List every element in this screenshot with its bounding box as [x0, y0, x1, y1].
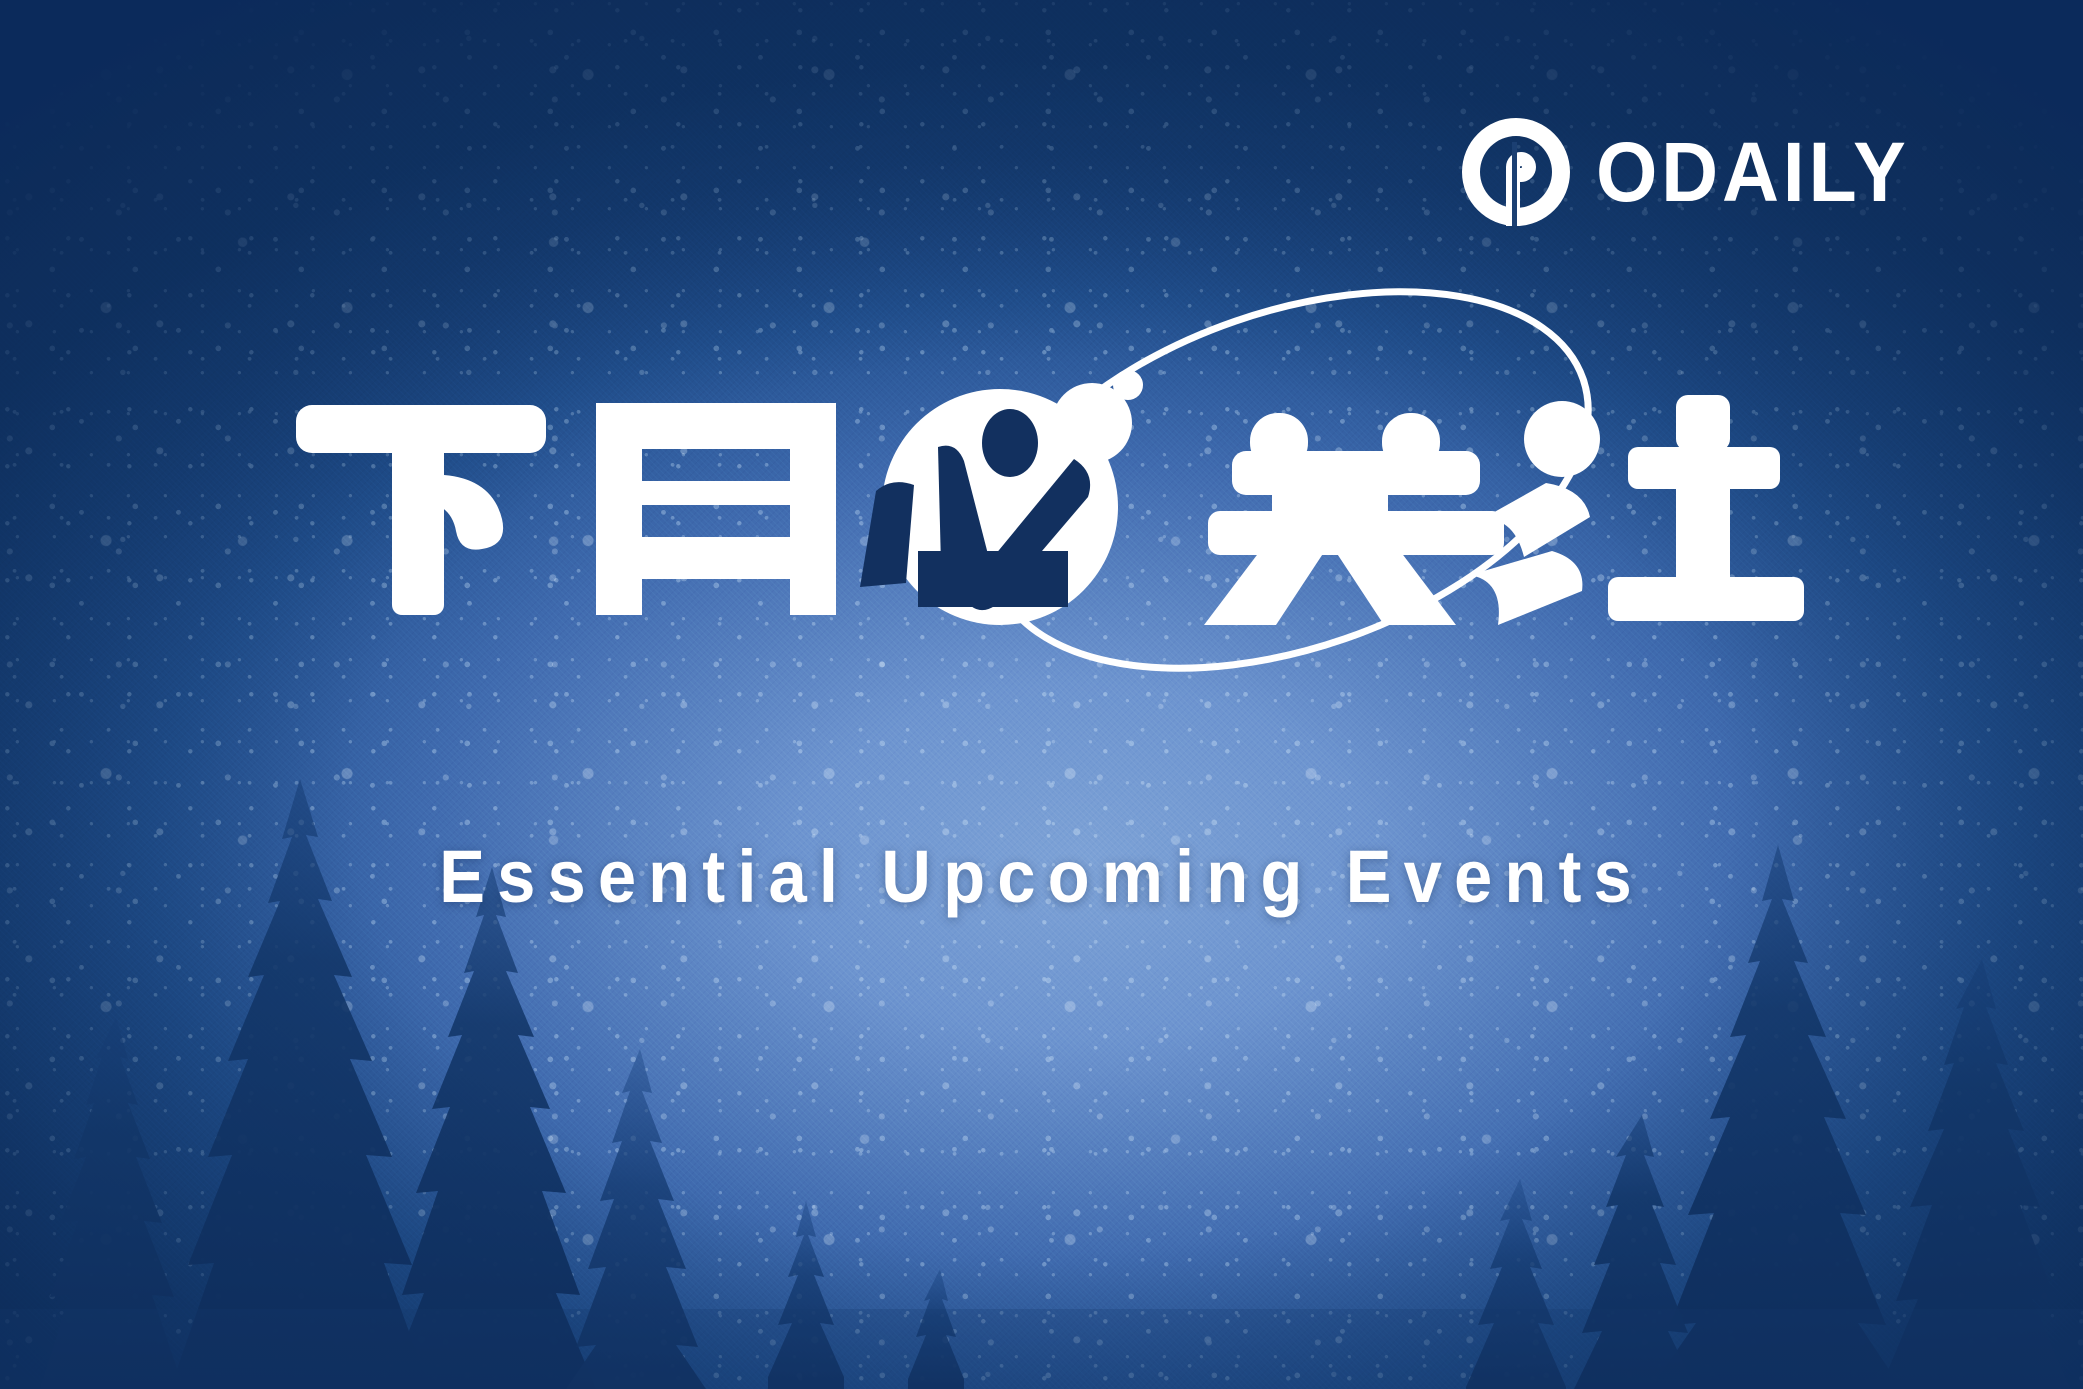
odaily-wordmark: ODAILY — [1596, 130, 1910, 214]
subtitle-text: Essential Upcoming Events — [73, 838, 2010, 916]
odaily-circle-mark-icon — [1462, 118, 1570, 226]
odaily-logo[interactable]: ODAILY — [1462, 118, 1930, 226]
odaily-event-banner: ODAILY — [0, 0, 2083, 1389]
title-char-xia — [296, 405, 546, 615]
title-char-zhu — [1470, 395, 1804, 625]
page-title — [0, 355, 2083, 625]
title-char-guan — [1204, 413, 1504, 625]
title-char-bi-badge — [860, 370, 1143, 625]
title-char-zhou — [596, 403, 836, 615]
